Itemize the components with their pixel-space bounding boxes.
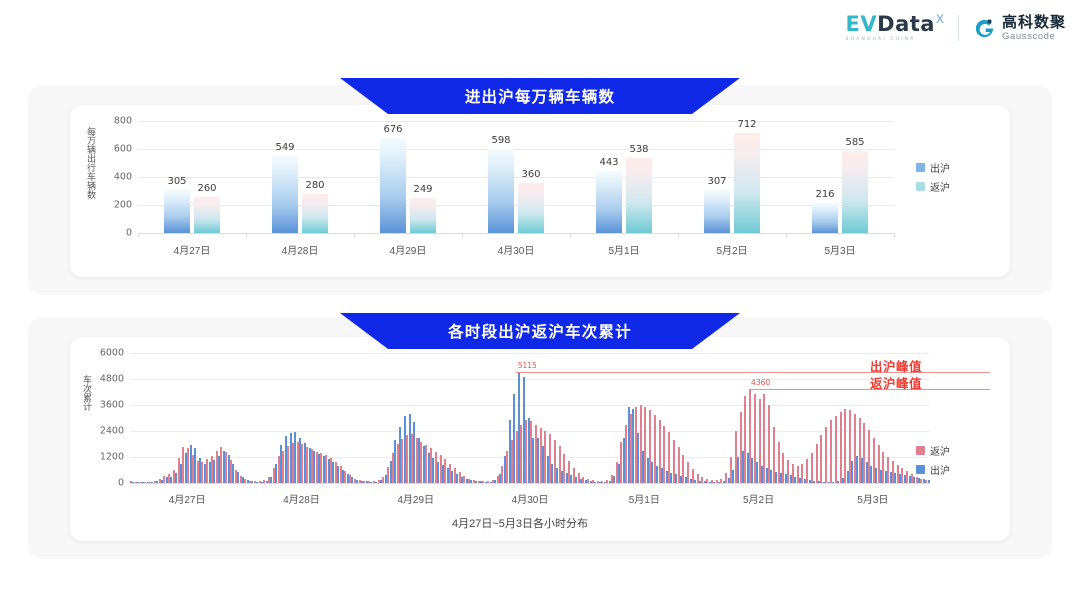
legend-label: 返沪 bbox=[930, 443, 950, 458]
chart1-x-tickmark bbox=[678, 233, 679, 237]
chart2-y-tick-label: 0 bbox=[84, 478, 124, 489]
chart1-x-tick-label: 5月2日 bbox=[716, 242, 747, 257]
chart2-y-tick-label: 4800 bbox=[84, 374, 124, 385]
chart2-x-tick-label: 5月2日 bbox=[743, 491, 774, 506]
chart1-x-tickmark bbox=[138, 233, 139, 237]
chart2-legend: 返沪出沪 bbox=[916, 443, 950, 477]
chart1-bar-返沪[interactable] bbox=[626, 158, 652, 233]
chart1-bar-value: 360 bbox=[521, 169, 540, 180]
chart2-x-tick-label: 4月30日 bbox=[512, 491, 549, 506]
chart2-caption: 4月27日~5月3日各小时分布 bbox=[452, 515, 588, 531]
chart2-hour-bar-return bbox=[816, 444, 818, 483]
chart1-gridline bbox=[138, 233, 894, 234]
chart1-y-tick-label: 200 bbox=[96, 200, 132, 211]
gausscode-en-text: Gausscode bbox=[1002, 32, 1066, 42]
chart1-legend: 出沪返沪 bbox=[916, 160, 950, 194]
gausscode-cn-text: 高科数聚 bbox=[1002, 15, 1066, 30]
chart2-y-tick-label: 1200 bbox=[84, 452, 124, 463]
chart1-bar-返沪[interactable] bbox=[194, 197, 220, 233]
chart2-x-tick-label: 4月29日 bbox=[397, 491, 434, 506]
chart1-x-tick-label: 4月27日 bbox=[174, 242, 211, 257]
chart2-hour-bar-return bbox=[811, 453, 813, 483]
evdata-logo: EVData X SHANGHAI CHINA bbox=[846, 14, 944, 42]
chart2-y-tick-label: 2400 bbox=[84, 426, 124, 437]
chart1-bar-出沪[interactable] bbox=[704, 190, 730, 233]
chart2-hour-bar-return bbox=[835, 416, 837, 483]
chart1-bar-返沪[interactable] bbox=[302, 194, 328, 233]
chart1-x-tick-label: 5月3日 bbox=[824, 242, 855, 257]
chart1-bar-value: 712 bbox=[737, 119, 756, 130]
chart1-panel: 每万辆出行车辆数02004006008003052604月27日5492804月… bbox=[28, 85, 1052, 295]
chart1-bar-value: 305 bbox=[167, 176, 186, 187]
chart2-panel: 车次累计0120024003600480060004月27日4月28日4月29日… bbox=[28, 317, 1052, 559]
chart1-bar-出沪[interactable] bbox=[488, 149, 514, 233]
chart1-title-banner: 进出沪每万辆车辆数 bbox=[340, 78, 740, 114]
chart1-y-axis-title: 每万辆出行车辆数 bbox=[86, 127, 95, 233]
evdata-subtitle: SHANGHAI CHINA bbox=[846, 37, 916, 42]
chart2-gridline bbox=[130, 379, 930, 380]
chart1-x-tickmark bbox=[570, 233, 571, 237]
chart1-plot-area: 每万辆出行车辆数02004006008003052604月27日5492804月… bbox=[70, 105, 1010, 277]
legend-label: 出沪 bbox=[930, 160, 950, 175]
peak-value-depart: 5115 bbox=[518, 361, 537, 370]
chart1-bar-value: 585 bbox=[845, 137, 864, 148]
chart1-legend-item-row[interactable]: 返沪 bbox=[916, 179, 950, 194]
chart1-gridline bbox=[138, 205, 894, 206]
peak-value-return: 4360 bbox=[751, 378, 770, 387]
chart1-gridline bbox=[138, 149, 894, 150]
chart1-x-tick-label: 4月28日 bbox=[282, 242, 319, 257]
chart1-bar-value: 249 bbox=[413, 184, 432, 195]
chart1-bar-出沪[interactable] bbox=[164, 190, 190, 233]
chart1-bar-返沪[interactable] bbox=[842, 151, 868, 233]
legend-label: 出沪 bbox=[930, 462, 950, 477]
chart2-x-tick-label: 5月1日 bbox=[629, 491, 660, 506]
chart1-bar-value: 307 bbox=[707, 176, 726, 187]
legend-swatch-icon bbox=[916, 163, 925, 172]
chart2-gridline bbox=[130, 483, 930, 484]
chart2-y-tick-label: 6000 bbox=[84, 348, 124, 359]
chart1-gridline bbox=[138, 121, 894, 122]
legend-swatch-icon bbox=[916, 446, 925, 455]
chart2-x-tick-label: 5月3日 bbox=[857, 491, 888, 506]
chart1-bar-value: 598 bbox=[491, 135, 510, 146]
chart1-y-tick-label: 0 bbox=[96, 228, 132, 239]
chart1-y-tick-label: 800 bbox=[96, 116, 132, 127]
logo-divider bbox=[958, 15, 959, 41]
chart2-plot-area: 车次累计0120024003600480060004月27日4月28日4月29日… bbox=[70, 337, 1010, 541]
chart1-x-tickmark bbox=[786, 233, 787, 237]
gausscode-logo: 高科数聚 Gausscode bbox=[973, 15, 1066, 42]
chart2-y-tick-label: 3600 bbox=[84, 400, 124, 411]
page-root: EVData X SHANGHAI CHINA 高科数聚 Gausscode 每… bbox=[0, 0, 1080, 608]
chart1-y-tick-label: 400 bbox=[96, 172, 132, 183]
chart1-bar-value: 280 bbox=[305, 180, 324, 191]
chart1-x-tickmark bbox=[246, 233, 247, 237]
evdata-superscript: X bbox=[936, 12, 944, 26]
chart1-legend-item-row[interactable]: 出沪 bbox=[916, 160, 950, 175]
chart1-bar-出沪[interactable] bbox=[596, 171, 622, 233]
gausscode-mark-icon bbox=[973, 17, 996, 40]
chart1-x-tickmark bbox=[894, 233, 895, 237]
chart1-bar-value: 443 bbox=[599, 157, 618, 168]
header-logo-bar: EVData X SHANGHAI CHINA 高科数聚 Gausscode bbox=[846, 14, 1066, 42]
chart2-gridline bbox=[130, 405, 930, 406]
chart2-hour-bar-return bbox=[840, 412, 842, 484]
chart2-hour-bar-depart bbox=[928, 480, 930, 483]
chart1-card: 每万辆出行车辆数02004006008003052604月27日5492804月… bbox=[70, 105, 1010, 277]
chart1-title: 进出沪每万辆车辆数 bbox=[465, 85, 615, 107]
chart2-x-tick-label: 4月27日 bbox=[169, 491, 206, 506]
chart1-bar-返沪[interactable] bbox=[410, 198, 436, 233]
chart2-title: 各时段出沪返沪车次累计 bbox=[448, 320, 632, 342]
chart2-hour-bar-return bbox=[820, 435, 822, 483]
chart2-title-banner: 各时段出沪返沪车次累计 bbox=[340, 313, 740, 349]
legend-swatch-icon bbox=[916, 465, 925, 474]
chart1-x-tickmark bbox=[354, 233, 355, 237]
evdata-logo-text: EVData bbox=[846, 14, 935, 35]
chart1-bar-出沪[interactable] bbox=[272, 156, 298, 233]
chart1-bar-value: 216 bbox=[815, 189, 834, 200]
chart1-bar-value: 260 bbox=[197, 183, 216, 194]
chart1-x-tick-label: 4月30日 bbox=[498, 242, 535, 257]
chart1-bar-出沪[interactable] bbox=[812, 203, 838, 233]
chart2-card: 车次累计0120024003600480060004月27日4月28日4月29日… bbox=[70, 337, 1010, 541]
peak-label-return: 返沪峰值 bbox=[870, 373, 922, 392]
legend-swatch-icon bbox=[916, 182, 925, 191]
chart1-x-tick-label: 4月29日 bbox=[390, 242, 427, 257]
chart1-bar-value: 538 bbox=[629, 144, 648, 155]
chart1-bar-返沪[interactable] bbox=[518, 183, 544, 233]
chart2-legend-item-row[interactable]: 出沪 bbox=[916, 462, 950, 477]
chart2-hour-bar-return bbox=[825, 427, 827, 483]
legend-label: 返沪 bbox=[930, 179, 950, 194]
chart1-bar-value: 549 bbox=[275, 142, 294, 153]
chart2-legend-item-row[interactable]: 返沪 bbox=[916, 443, 950, 458]
chart1-x-tick-label: 5月1日 bbox=[608, 242, 639, 257]
chart1-y-tick-label: 600 bbox=[96, 144, 132, 155]
chart2-hour-bar-return bbox=[830, 420, 832, 483]
chart2-gridline bbox=[130, 353, 930, 354]
chart1-x-tickmark bbox=[462, 233, 463, 237]
chart2-x-tick-label: 4月28日 bbox=[283, 491, 320, 506]
chart1-bar-返沪[interactable] bbox=[734, 133, 760, 233]
chart1-bar-value: 676 bbox=[383, 124, 402, 135]
chart1-gridline bbox=[138, 177, 894, 178]
chart1-bar-出沪[interactable] bbox=[380, 138, 406, 233]
